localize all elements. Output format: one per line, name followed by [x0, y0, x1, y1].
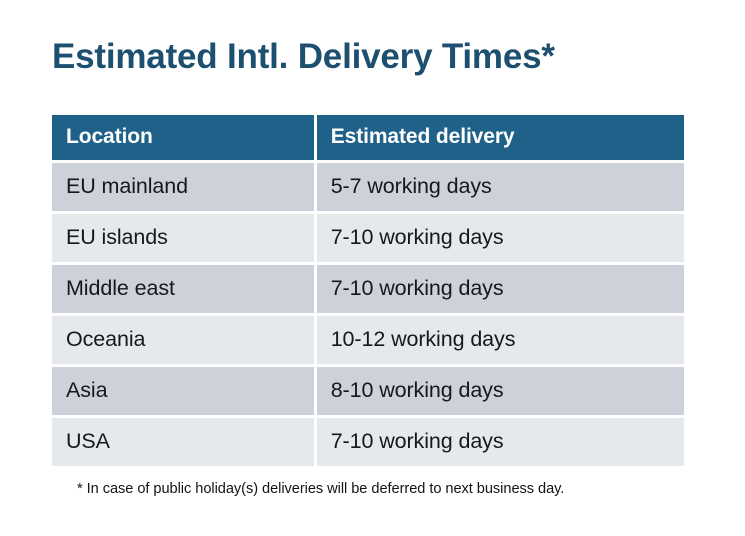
column-header-estimated-delivery: Estimated delivery: [317, 115, 684, 160]
footnote: * In case of public holiday(s) deliverie…: [77, 479, 564, 499]
cell-location: Oceania: [52, 316, 314, 364]
cell-delivery: 7-10 working days: [317, 214, 684, 262]
table-body: EU mainland 5-7 working days EU islands …: [52, 163, 684, 466]
table-header: Location Estimated delivery: [52, 115, 684, 160]
cell-location: USA: [52, 418, 314, 466]
table-header-row: Location Estimated delivery: [52, 115, 684, 160]
cell-delivery: 7-10 working days: [317, 265, 684, 313]
column-header-location: Location: [52, 115, 314, 160]
table-row: EU mainland 5-7 working days: [52, 163, 684, 211]
cell-location: Asia: [52, 367, 314, 415]
table-row: USA 7-10 working days: [52, 418, 684, 466]
cell-location: EU islands: [52, 214, 314, 262]
cell-location: EU mainland: [52, 163, 314, 211]
cell-delivery: 8-10 working days: [317, 367, 684, 415]
page-title: Estimated Intl. Delivery Times*: [52, 36, 555, 78]
delivery-times-card: Estimated Intl. Delivery Times* Location…: [0, 0, 745, 536]
delivery-times-table: Location Estimated delivery EU mainland …: [49, 112, 687, 469]
table-row: EU islands 7-10 working days: [52, 214, 684, 262]
cell-delivery: 10-12 working days: [317, 316, 684, 364]
cell-location: Middle east: [52, 265, 314, 313]
table-row: Asia 8-10 working days: [52, 367, 684, 415]
cell-delivery: 7-10 working days: [317, 418, 684, 466]
table-row: Middle east 7-10 working days: [52, 265, 684, 313]
cell-delivery: 5-7 working days: [317, 163, 684, 211]
table-row: Oceania 10-12 working days: [52, 316, 684, 364]
